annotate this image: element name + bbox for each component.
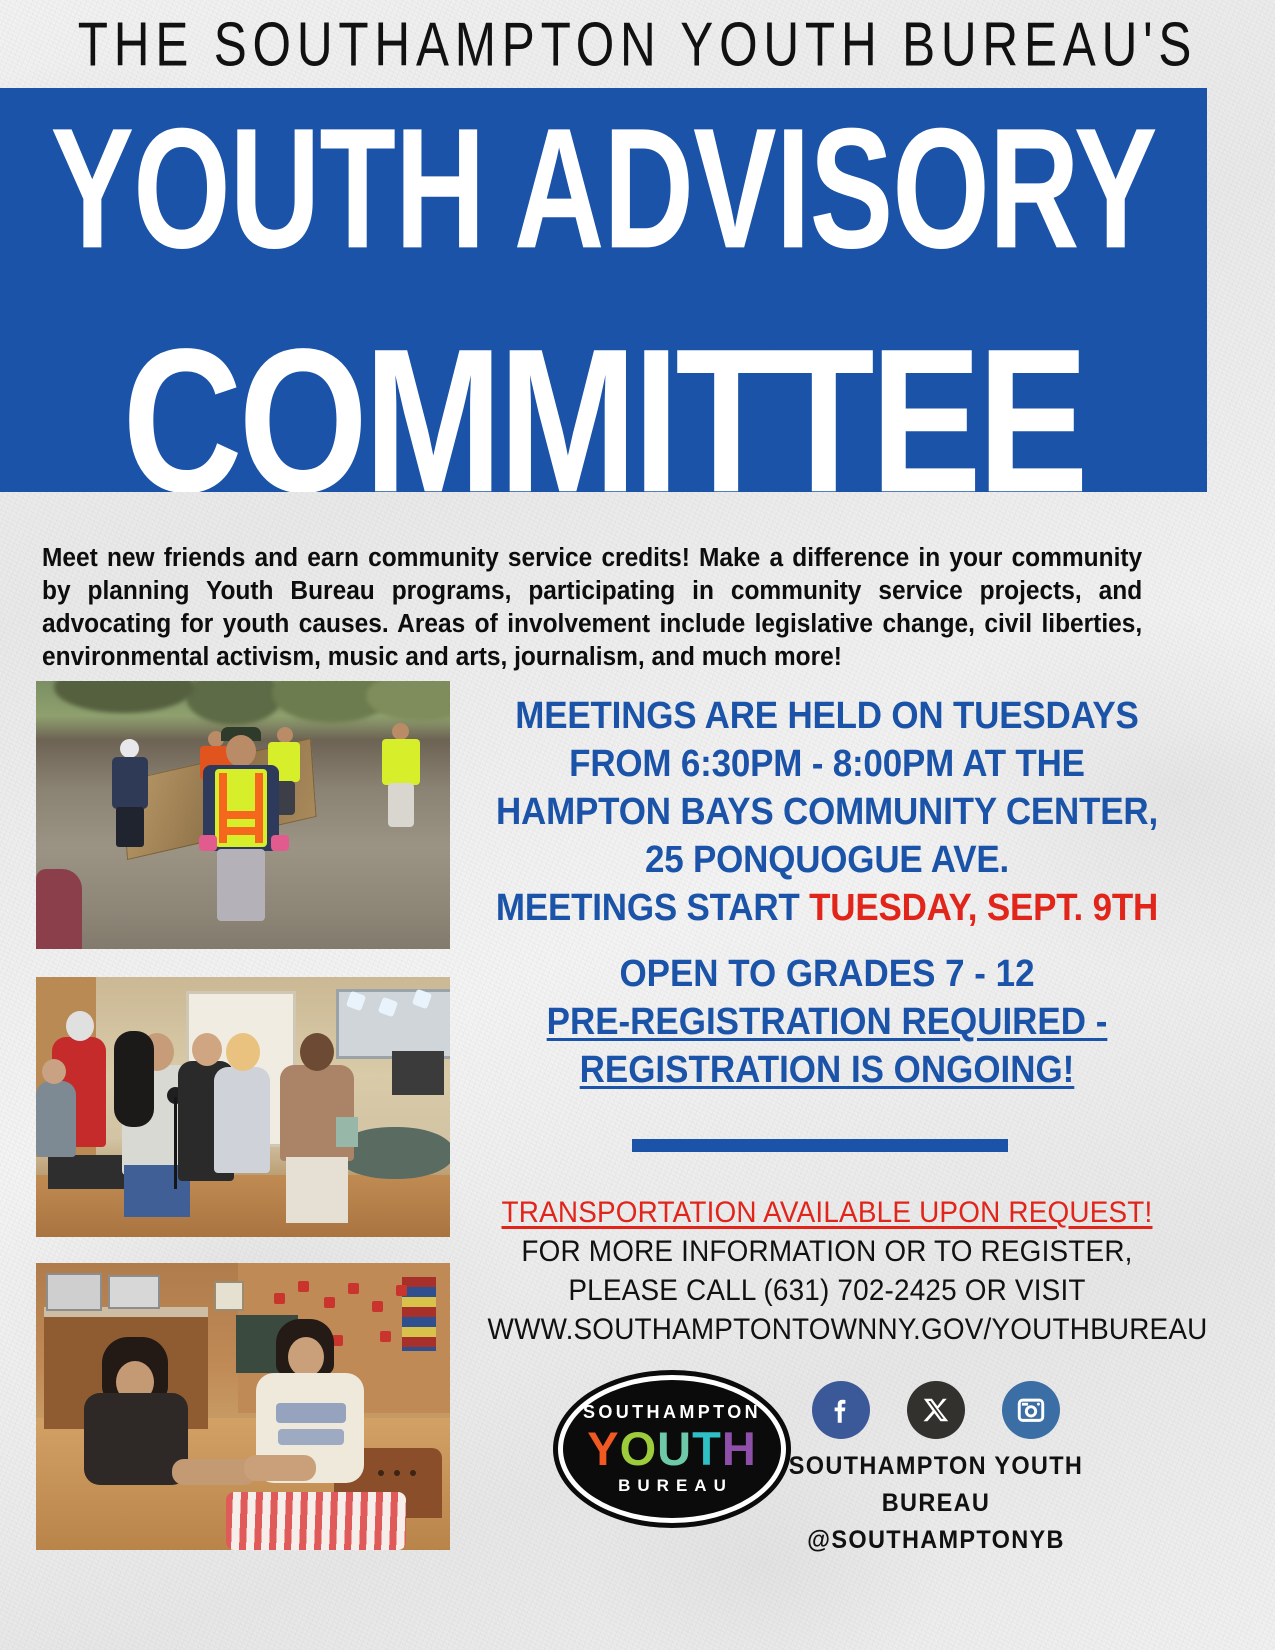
contact-line-1: FOR MORE INFORMATION OR TO REGISTER, xyxy=(488,1232,1167,1271)
social-bureau-name: SOUTHAMPTON YOUTH BUREAU xyxy=(772,1448,1099,1522)
x-twitter-icon[interactable] xyxy=(907,1381,965,1439)
logo-letter-h: H xyxy=(722,1422,757,1475)
section-divider xyxy=(632,1139,1008,1152)
photo-cpr-training xyxy=(36,1263,450,1550)
logo-bottom-text: BUREAU xyxy=(611,1476,733,1496)
meeting-line-2: FROM 6:30PM - 8:00PM AT THE xyxy=(491,740,1163,788)
title-banner: YOUTH ADVISORY COMMITTEE xyxy=(0,88,1207,492)
instagram-icon[interactable] xyxy=(1002,1381,1060,1439)
social-handle-block: SOUTHAMPTON YOUTH BUREAU @SOUTHAMPTONYB xyxy=(772,1448,1099,1559)
meeting-line-3: HAMPTON BAYS COMMUNITY CENTER, xyxy=(491,788,1163,836)
photo-community-meeting xyxy=(36,977,450,1237)
facebook-icon[interactable] xyxy=(812,1381,870,1439)
prereg-line-2: REGISTRATION IS ONGOING! xyxy=(491,1046,1163,1094)
social-icon-row xyxy=(812,1381,1060,1439)
social-handle: @SOUTHAMPTONYB xyxy=(772,1522,1099,1559)
grades-line: OPEN TO GRADES 7 - 12 xyxy=(491,950,1163,998)
youth-bureau-logo: SOUTHAMPTON YOUTH BUREAU xyxy=(563,1380,781,1518)
contact-line-2: PLEASE CALL (631) 702-2425 OR VISIT xyxy=(488,1271,1167,1310)
logo-top-text: SOUTHAMPTON xyxy=(583,1402,761,1423)
meeting-info-block: MEETINGS ARE HELD ON TUESDAYS FROM 6:30P… xyxy=(491,692,1163,932)
logo-letter-o: O xyxy=(620,1422,658,1475)
meeting-start-line: MEETINGS START TUESDAY, SEPT. 9TH xyxy=(491,884,1163,932)
flyer-page: THE SOUTHAMPTON YOUTH BUREAU'S YOUTH ADV… xyxy=(0,0,1275,1650)
title-line-2: COMMITTEE xyxy=(6,318,1201,492)
intro-paragraph: Meet new friends and earn community serv… xyxy=(42,542,1142,674)
logo-letter-t: T xyxy=(692,1422,722,1475)
logo-letter-y: Y xyxy=(587,1422,619,1475)
meeting-line-4: 25 PONQUOGUE AVE. xyxy=(491,836,1163,884)
meeting-line-1: MEETINGS ARE HELD ON TUESDAYS xyxy=(491,692,1163,740)
kicker-headline: THE SOUTHAMPTON YOUTH BUREAU'S xyxy=(19,8,1256,80)
title-line-1: YOUTH ADVISORY xyxy=(12,104,1195,276)
meeting-start-prefix: MEETINGS START xyxy=(496,887,809,929)
photo-trail-build xyxy=(36,681,450,949)
registration-block: OPEN TO GRADES 7 - 12 PRE-REGISTRATION R… xyxy=(491,950,1163,1094)
logo-youth-wordmark: YOUTH xyxy=(587,1424,757,1474)
contact-website[interactable]: WWW.SOUTHAMPTONTOWNNY.GOV/YOUTHBUREAU xyxy=(488,1310,1167,1349)
transportation-note: TRANSPORTATION AVAILABLE UPON REQUEST! xyxy=(488,1193,1167,1232)
logo-letter-u: U xyxy=(657,1422,692,1475)
meeting-start-date: TUESDAY, SEPT. 9TH xyxy=(809,887,1158,929)
contact-block: TRANSPORTATION AVAILABLE UPON REQUEST! F… xyxy=(488,1193,1167,1349)
prereg-line-1: PRE-REGISTRATION REQUIRED - xyxy=(491,998,1163,1046)
